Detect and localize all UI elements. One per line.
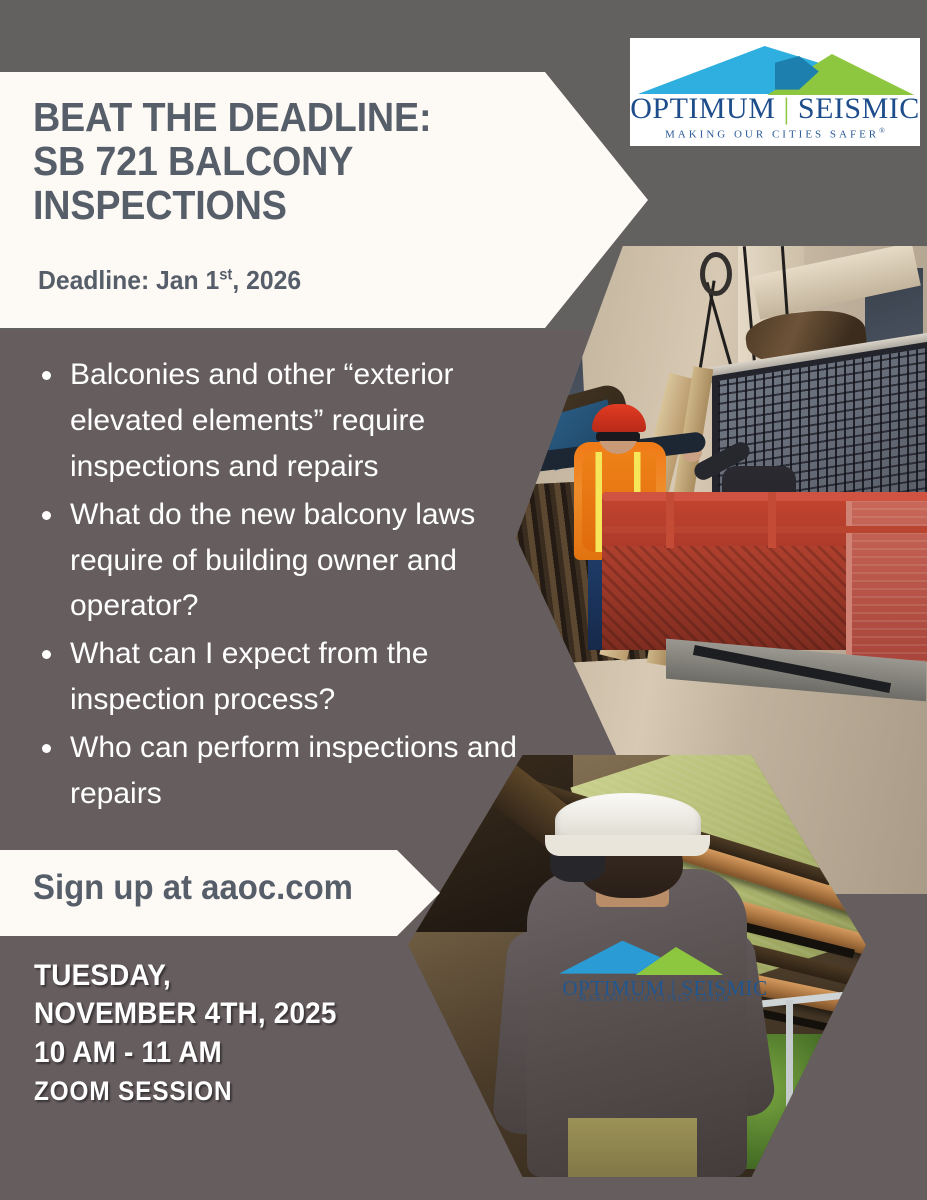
deadline-ordinal-suffix: st (219, 266, 232, 283)
deadline-text: Deadline: Jan 1st, 2026 (38, 265, 301, 296)
title-line-2: SB 721 BALCONY (33, 140, 493, 184)
bullet-list: Balconies and other “exterior elevated e… (30, 352, 530, 819)
lift-mid-rail (602, 526, 927, 533)
list-item: What do the new balcony laws require of … (30, 492, 530, 630)
lift-rail-post-1 (666, 492, 674, 548)
event-date: NOVEMBER 4TH, 2025 (34, 995, 337, 1033)
logo-divider-bar: | (783, 92, 790, 125)
logo-tagline: MAKING OUR CITIES SAFER® (630, 126, 920, 141)
list-item: Who can perform inspections and repairs (30, 725, 530, 817)
crane-hook (700, 252, 732, 296)
event-time: 10 AM - 11 AM (34, 1034, 337, 1072)
event-mode: ZOOM SESSION (34, 1072, 327, 1111)
flyer-poster: OPTIMUM | SEISMIC MAKING OUR CITIES SAFE… (0, 0, 927, 1200)
logo-word-right: SEISMIC (798, 92, 920, 125)
list-item: Balconies and other “exterior elevated e… (30, 352, 530, 490)
lift-rail-post-2 (768, 492, 776, 548)
shirt-logo: OPTIMUM | SEISMIC MAKING OUR CITIES SAFE… (559, 941, 724, 1004)
event-day: TUESDAY, (34, 957, 337, 995)
optimum-seismic-logo: OPTIMUM | SEISMIC MAKING OUR CITIES SAFE… (630, 38, 920, 146)
registered-trademark-icon: ® (879, 126, 885, 135)
event-details: TUESDAY, NOVEMBER 4TH, 2025 10 AM - 11 A… (34, 957, 359, 1111)
title-line-1: BEAT THE DEADLINE: (33, 96, 493, 140)
deadline-prefix: Deadline: Jan 1 (38, 265, 219, 295)
deadline-suffix: , 2026 (232, 265, 301, 295)
hard-hat-brim (545, 835, 710, 856)
signup-call-to-action[interactable]: Sign up at aaoc.com (33, 868, 353, 908)
logo-wordmark: OPTIMUM | SEISMIC (630, 92, 920, 126)
safety-glasses (596, 432, 640, 441)
lift-gate (846, 492, 927, 662)
shirt-logo-tagline: MAKING OUR CITIES SAFER (579, 994, 731, 1003)
page-title: BEAT THE DEADLINE: SB 721 BALCONY INSPEC… (33, 96, 493, 228)
roof-icon (638, 44, 912, 92)
title-line-3: INSPECTIONS (33, 184, 493, 228)
lift-top-rail (602, 492, 927, 501)
list-item: What can I expect from the inspection pr… (30, 631, 530, 723)
logo-word-left: OPTIMUM (630, 92, 775, 125)
logo-tagline-text: MAKING OUR CITIES SAFER (665, 129, 879, 141)
worker-pants (568, 1118, 696, 1177)
